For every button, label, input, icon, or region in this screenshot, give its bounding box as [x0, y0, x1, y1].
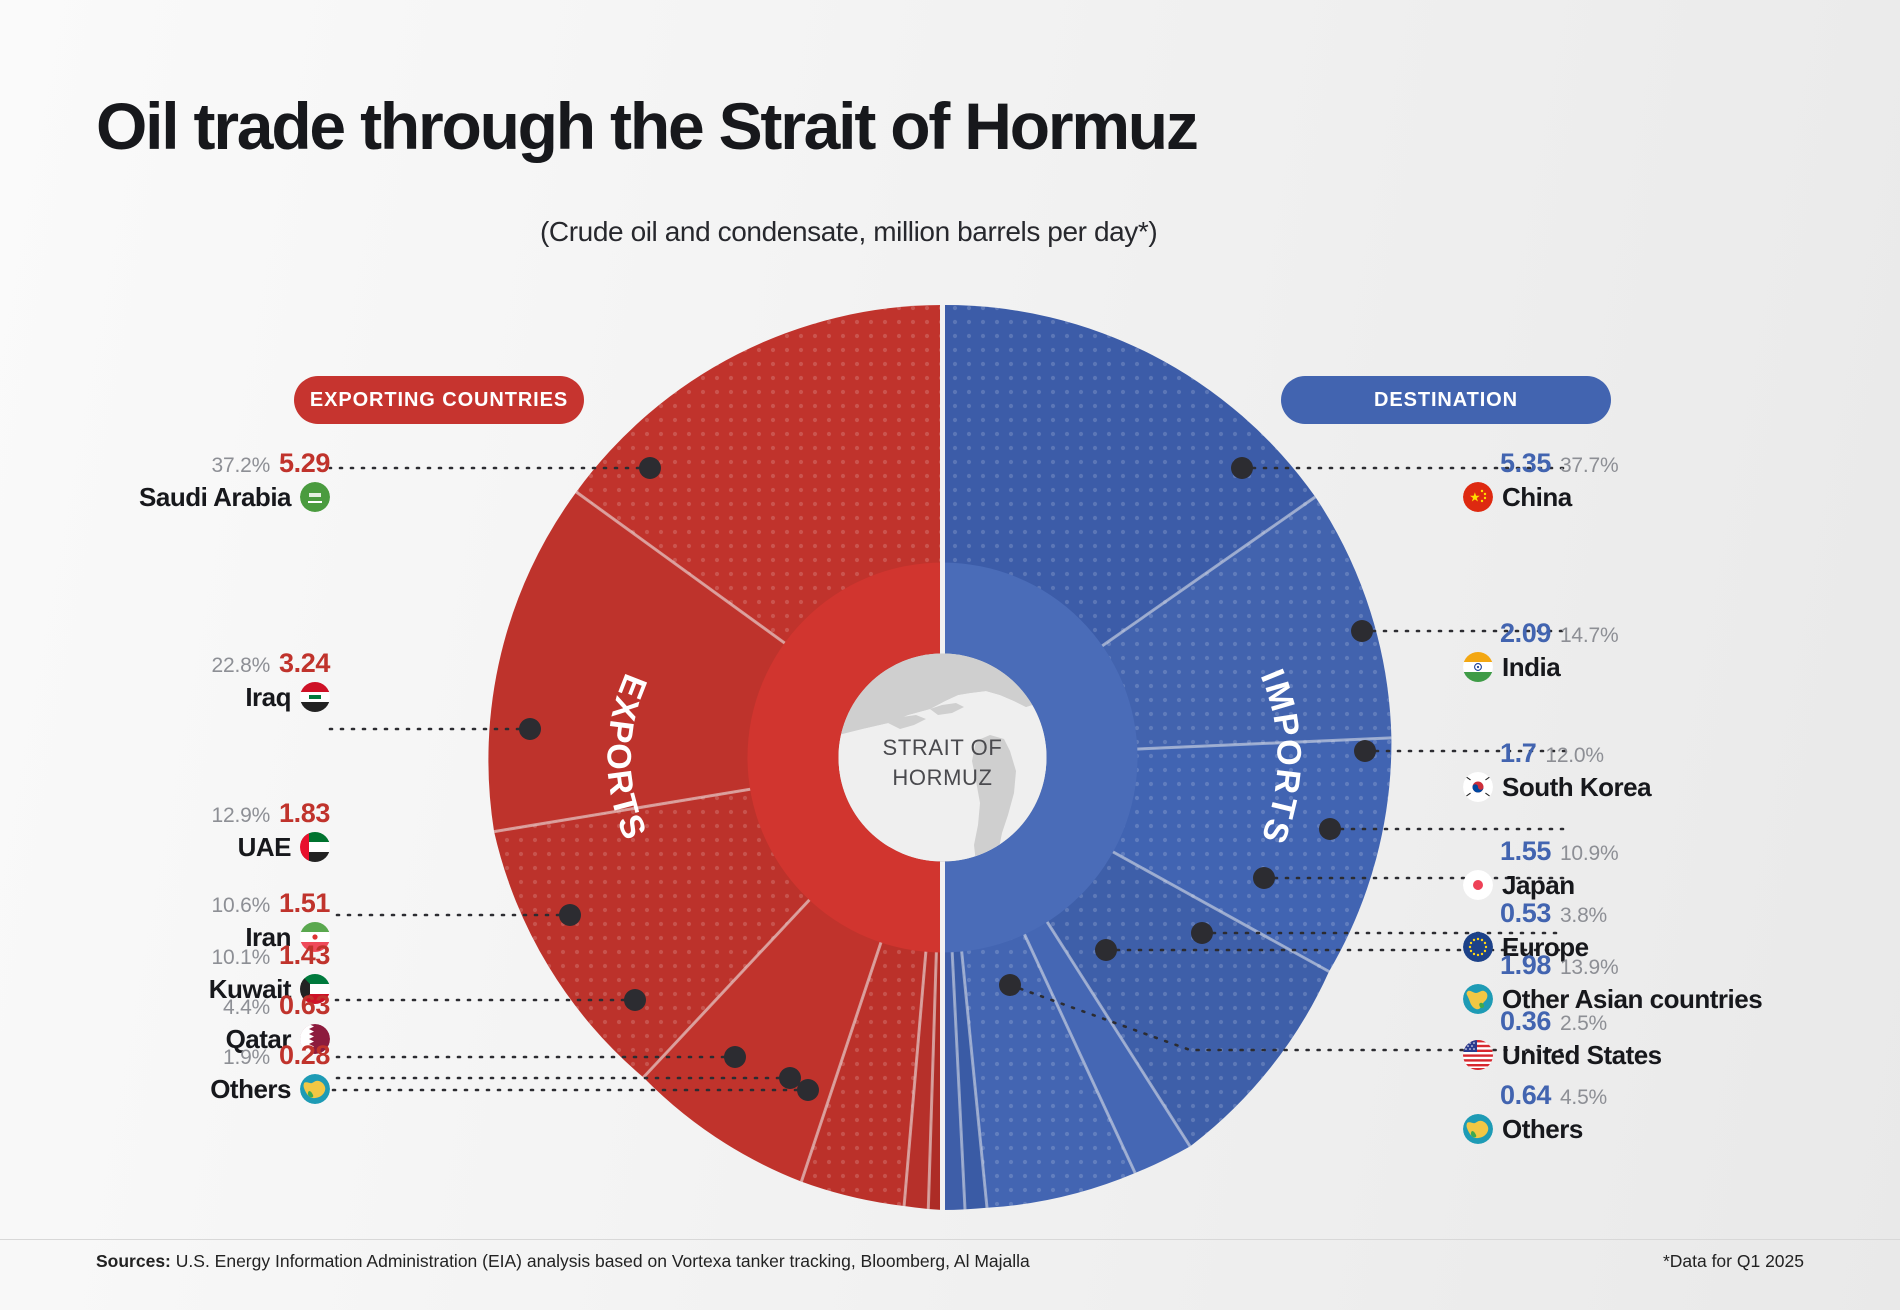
- export-pct-0: 37.2%: [212, 455, 271, 476]
- import-val-1: 2.09: [1500, 620, 1551, 647]
- globe-flag: [300, 1074, 330, 1104]
- export-pct-1: 22.8%: [212, 655, 271, 676]
- data-note: *Data for Q1 2025: [1663, 1251, 1804, 1272]
- import-val-3: 1.55: [1500, 838, 1551, 865]
- china-flag: [1463, 482, 1493, 512]
- import-label-other-asian-countries: 1.9813.9% Other Asian countries: [1500, 952, 1762, 1014]
- japan-flag: [1463, 870, 1493, 900]
- europe-flag: [1463, 932, 1493, 962]
- import-name-2: South Korea: [1502, 774, 1651, 800]
- export-val-4: 1.43: [279, 942, 330, 969]
- export-name-2: UAE: [238, 834, 291, 860]
- import-val-4: 0.53: [1500, 900, 1551, 927]
- export-pct-3: 10.6%: [212, 895, 271, 916]
- import-label-others: 0.644.5% Others: [1500, 1082, 1607, 1144]
- export-name-1: Iraq: [245, 684, 291, 710]
- import-name-6: United States: [1502, 1042, 1662, 1068]
- map-label-line2: HORMUZ: [892, 765, 992, 790]
- page-subtitle: (Crude oil and condensate, million barre…: [540, 216, 1157, 248]
- export-val-0: 5.29: [279, 450, 330, 477]
- export-val-6: 0.28: [279, 1042, 330, 1069]
- import-pct-2: 12.0%: [1545, 745, 1604, 766]
- import-pct-4: 3.8%: [1560, 905, 1607, 926]
- export-val-3: 1.51: [279, 890, 330, 917]
- export-name-0: Saudi Arabia: [139, 484, 291, 510]
- export-pct-2: 12.9%: [212, 805, 271, 826]
- import-val-6: 0.36: [1500, 1008, 1551, 1035]
- import-pct-0: 37.7%: [1560, 455, 1619, 476]
- export-label-uae: 12.9%1.83 UAE: [130, 800, 330, 862]
- page-title: Oil trade through the Strait of Hormuz: [96, 88, 1197, 164]
- footer-divider: [0, 1239, 1900, 1240]
- import-pct-6: 2.5%: [1560, 1013, 1607, 1034]
- import-name-7: Others: [1502, 1116, 1583, 1142]
- united-states-flag: [1463, 1040, 1493, 1070]
- globe-asia-flag: [1463, 984, 1493, 1014]
- export-label-saudi-arabia: 37.2%5.29 Saudi Arabia: [130, 450, 330, 512]
- map-label-line1: STRAIT OF: [883, 735, 1003, 760]
- import-pct-5: 13.9%: [1560, 957, 1619, 978]
- import-name-0: China: [1502, 484, 1572, 510]
- import-val-2: 1.7: [1500, 740, 1536, 767]
- south-korea-flag: [1463, 772, 1493, 802]
- import-name-3: Japan: [1502, 872, 1575, 898]
- export-label-iraq: 22.8%3.24 Iraq: [130, 650, 330, 712]
- import-pct-1: 14.7%: [1560, 625, 1619, 646]
- import-pct-7: 4.5%: [1560, 1087, 1607, 1108]
- import-val-7: 0.64: [1500, 1082, 1551, 1109]
- india-flag: [1463, 652, 1493, 682]
- import-val-0: 5.35: [1500, 450, 1551, 477]
- export-val-5: 0.63: [279, 992, 330, 1019]
- globe-flag: [1463, 1114, 1493, 1144]
- export-val-1: 3.24: [279, 650, 330, 677]
- export-pct-5: 4.4%: [223, 997, 270, 1018]
- import-label-india: 2.0914.7% India: [1500, 620, 1619, 682]
- export-label-others: 1.9%0.28 Others: [130, 1042, 330, 1104]
- sources-body: U.S. Energy Information Administration (…: [176, 1251, 1030, 1271]
- export-pct-4: 10.1%: [212, 947, 271, 968]
- import-name-1: India: [1502, 654, 1560, 680]
- import-label-china: 5.3537.7% China: [1500, 450, 1619, 512]
- hormuz-oil-donut-chart: STRAIT OF HORMUZ EXPORTS IMPORTS: [490, 305, 1395, 1210]
- import-label-japan: 1.5510.9% Japan: [1500, 838, 1619, 900]
- import-val-5: 1.98: [1500, 952, 1551, 979]
- import-label-south-korea: 1.712.0% South Korea: [1500, 740, 1651, 802]
- sources-label: Sources:: [96, 1251, 171, 1271]
- export-pct-6: 1.9%: [223, 1047, 270, 1068]
- iraq-flag: [300, 682, 330, 712]
- import-label-united-states: 0.362.5% United States: [1500, 1008, 1662, 1070]
- uae-flag: [300, 832, 330, 862]
- import-pct-3: 10.9%: [1560, 843, 1619, 864]
- saudi-arabia-flag: [300, 482, 330, 512]
- export-val-2: 1.83: [279, 800, 330, 827]
- export-name-6: Others: [210, 1076, 291, 1102]
- sources-text: Sources: U.S. Energy Information Adminis…: [96, 1251, 1030, 1272]
